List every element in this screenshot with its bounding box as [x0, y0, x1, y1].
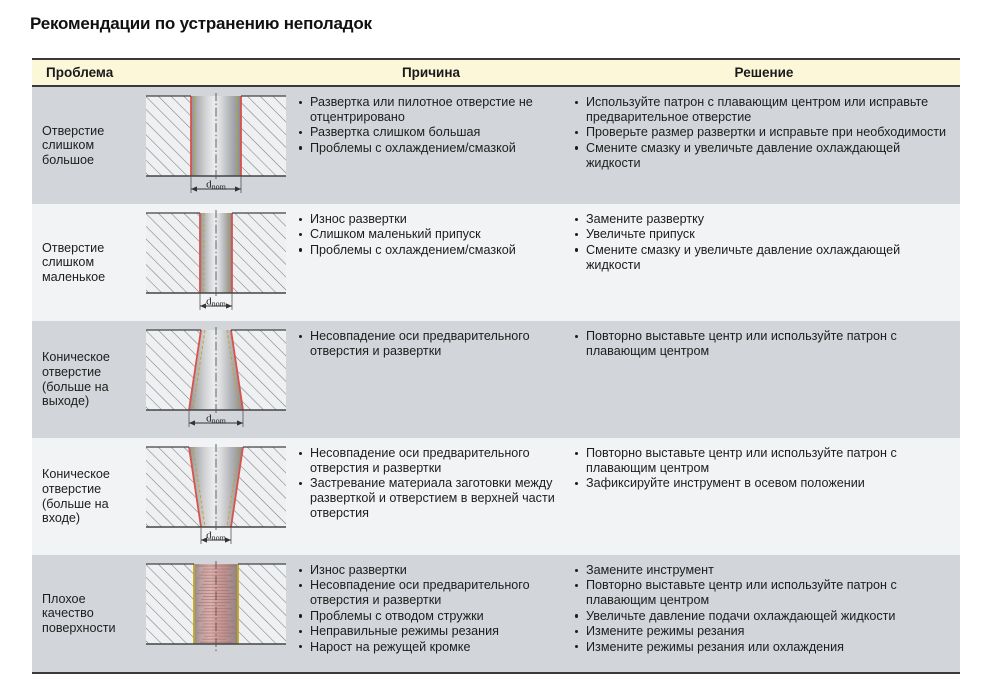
- list-item: Повторно выставьте центр или используйте…: [574, 446, 954, 476]
- list-item: Застревание материала заготовки между ра…: [298, 476, 562, 521]
- list-item: Смените смазку и увеличьте давление охла…: [574, 243, 954, 273]
- list-item: Замените инструмент: [574, 563, 954, 578]
- problem-cell: Плохоекачествоповерхности: [32, 555, 294, 672]
- table-row: ОтверстиеслишкомбольшоеdnomРазвертка или…: [32, 87, 960, 204]
- list-item: Износ развертки: [298, 563, 562, 578]
- troubleshooting-page: Рекомендации по устранению неполадок Про…: [0, 0, 990, 697]
- list-item: Несовпадение оси предварительного отверс…: [298, 578, 562, 608]
- hole-cross-section-diagram: dnom: [142, 93, 290, 198]
- table-row: ПлохоекачествоповерхностиИзнос развертки…: [32, 555, 960, 672]
- problem-label: Плохоекачествоповерхности: [42, 592, 142, 636]
- solution-list: Повторно выставьте центр или используйте…: [574, 329, 954, 359]
- list-item: Проблемы с отводом стружки: [298, 609, 562, 624]
- problem-cell: Коническоеотверстие(больше навыходе)dnom: [32, 321, 294, 438]
- cause-list: Развертка или пилотное отверстие не отце…: [298, 95, 562, 156]
- problem-cell: Отверстиеслишкоммаленькоеdnom: [32, 204, 294, 321]
- list-item: Проблемы с охлаждением/смазкой: [298, 141, 562, 156]
- list-item: Нарост на режущей кромке: [298, 640, 562, 655]
- cause-list: Несовпадение оси предварительного отверс…: [298, 446, 562, 521]
- svg-text:dnom: dnom: [206, 179, 227, 192]
- problem-label: Коническоеотверстие(больше навходе): [42, 467, 142, 525]
- problem-label: Отверстиеслишкомбольшое: [42, 124, 142, 168]
- solution-list: Повторно выставьте центр или используйте…: [574, 446, 954, 491]
- table-body: ОтверстиеслишкомбольшоеdnomРазвертка или…: [32, 87, 960, 672]
- list-item: Замените развертку: [574, 212, 954, 227]
- solution-cell: Замените инструментПовторно выставьте це…: [568, 555, 960, 672]
- cause-cell: Износ разверткиНесовпадение оси предвари…: [294, 555, 568, 672]
- list-item: Проблемы с охлаждением/смазкой: [298, 243, 562, 258]
- list-item: Несовпадение оси предварительного отверс…: [298, 446, 562, 476]
- list-item: Слишком маленький припуск: [298, 227, 562, 242]
- cause-cell: Несовпадение оси предварительного отверс…: [294, 438, 568, 555]
- cause-list: Износ разверткиНесовпадение оси предвари…: [298, 563, 562, 654]
- list-item: Износ развертки: [298, 212, 562, 227]
- hole-cross-section-diagram: [142, 561, 290, 666]
- table-header-row: Проблема Причина Решение: [32, 58, 960, 87]
- problem-cell: Отверстиеслишкомбольшоеdnom: [32, 87, 294, 204]
- list-item: Зафиксируйте инструмент в осевом положен…: [574, 476, 954, 491]
- problem-label: Отверстиеслишкоммаленькое: [42, 241, 142, 285]
- table-row: Коническоеотверстие(больше навходе)dnomН…: [32, 438, 960, 555]
- list-item: Проверьте размер развертки и исправьте п…: [574, 125, 954, 140]
- list-item: Используйте патрон с плавающим центром и…: [574, 95, 954, 125]
- column-header-problem: Проблема: [32, 65, 294, 80]
- svg-text:dnom: dnom: [206, 530, 227, 543]
- solution-cell: Повторно выставьте центр или используйте…: [568, 438, 960, 555]
- list-item: Неправильные режимы резания: [298, 624, 562, 639]
- solution-list: Замените инструментПовторно выставьте це…: [574, 563, 954, 654]
- solution-list: Используйте патрон с плавающим центром и…: [574, 95, 954, 171]
- solution-cell: Повторно выставьте центр или используйте…: [568, 321, 960, 438]
- page-title: Рекомендации по устранению неполадок: [30, 14, 372, 34]
- table-row: ОтверстиеслишкоммаленькоеdnomИзнос разве…: [32, 204, 960, 321]
- list-item: Смените смазку и увеличьте давление охла…: [574, 141, 954, 171]
- list-item: Увеличьте припуск: [574, 227, 954, 242]
- cause-list: Износ разверткиСлишком маленький припуск…: [298, 212, 562, 258]
- hole-cross-section-diagram: dnom: [142, 444, 290, 549]
- cause-cell: Развертка или пилотное отверстие не отце…: [294, 87, 568, 204]
- cause-cell: Износ разверткиСлишком маленький припуск…: [294, 204, 568, 321]
- solution-cell: Замените разверткуУвеличьте припускСмени…: [568, 204, 960, 321]
- table-row: Коническоеотверстие(больше навыходе)dnom…: [32, 321, 960, 438]
- list-item: Несовпадение оси предварительного отверс…: [298, 329, 562, 359]
- list-item: Измените режимы резания: [574, 624, 954, 639]
- troubleshooting-table: Проблема Причина Решение Отверстиеслишко…: [32, 58, 960, 674]
- hole-cross-section-diagram: dnom: [142, 210, 290, 315]
- cause-list: Несовпадение оси предварительного отверс…: [298, 329, 562, 359]
- cause-cell: Несовпадение оси предварительного отверс…: [294, 321, 568, 438]
- column-header-solution: Решение: [568, 65, 960, 80]
- list-item: Измените режимы резания или охлаждения: [574, 640, 954, 655]
- table-bottom-rule: [32, 672, 960, 674]
- svg-text:dnom: dnom: [206, 413, 227, 426]
- hole-cross-section-diagram: dnom: [142, 327, 290, 432]
- solution-cell: Используйте патрон с плавающим центром и…: [568, 87, 960, 204]
- problem-cell: Коническоеотверстие(больше навходе)dnom: [32, 438, 294, 555]
- svg-text:dnom: dnom: [206, 296, 227, 309]
- solution-list: Замените разверткуУвеличьте припускСмени…: [574, 212, 954, 273]
- list-item: Повторно выставьте центр или используйте…: [574, 578, 954, 608]
- problem-label: Коническоеотверстие(больше навыходе): [42, 350, 142, 408]
- list-item: Развертка или пилотное отверстие не отце…: [298, 95, 562, 125]
- list-item: Увеличьте давление подачи охлаждающей жи…: [574, 609, 954, 624]
- list-item: Повторно выставьте центр или используйте…: [574, 329, 954, 359]
- list-item: Развертка слишком большая: [298, 125, 562, 140]
- column-header-cause: Причина: [294, 65, 568, 80]
